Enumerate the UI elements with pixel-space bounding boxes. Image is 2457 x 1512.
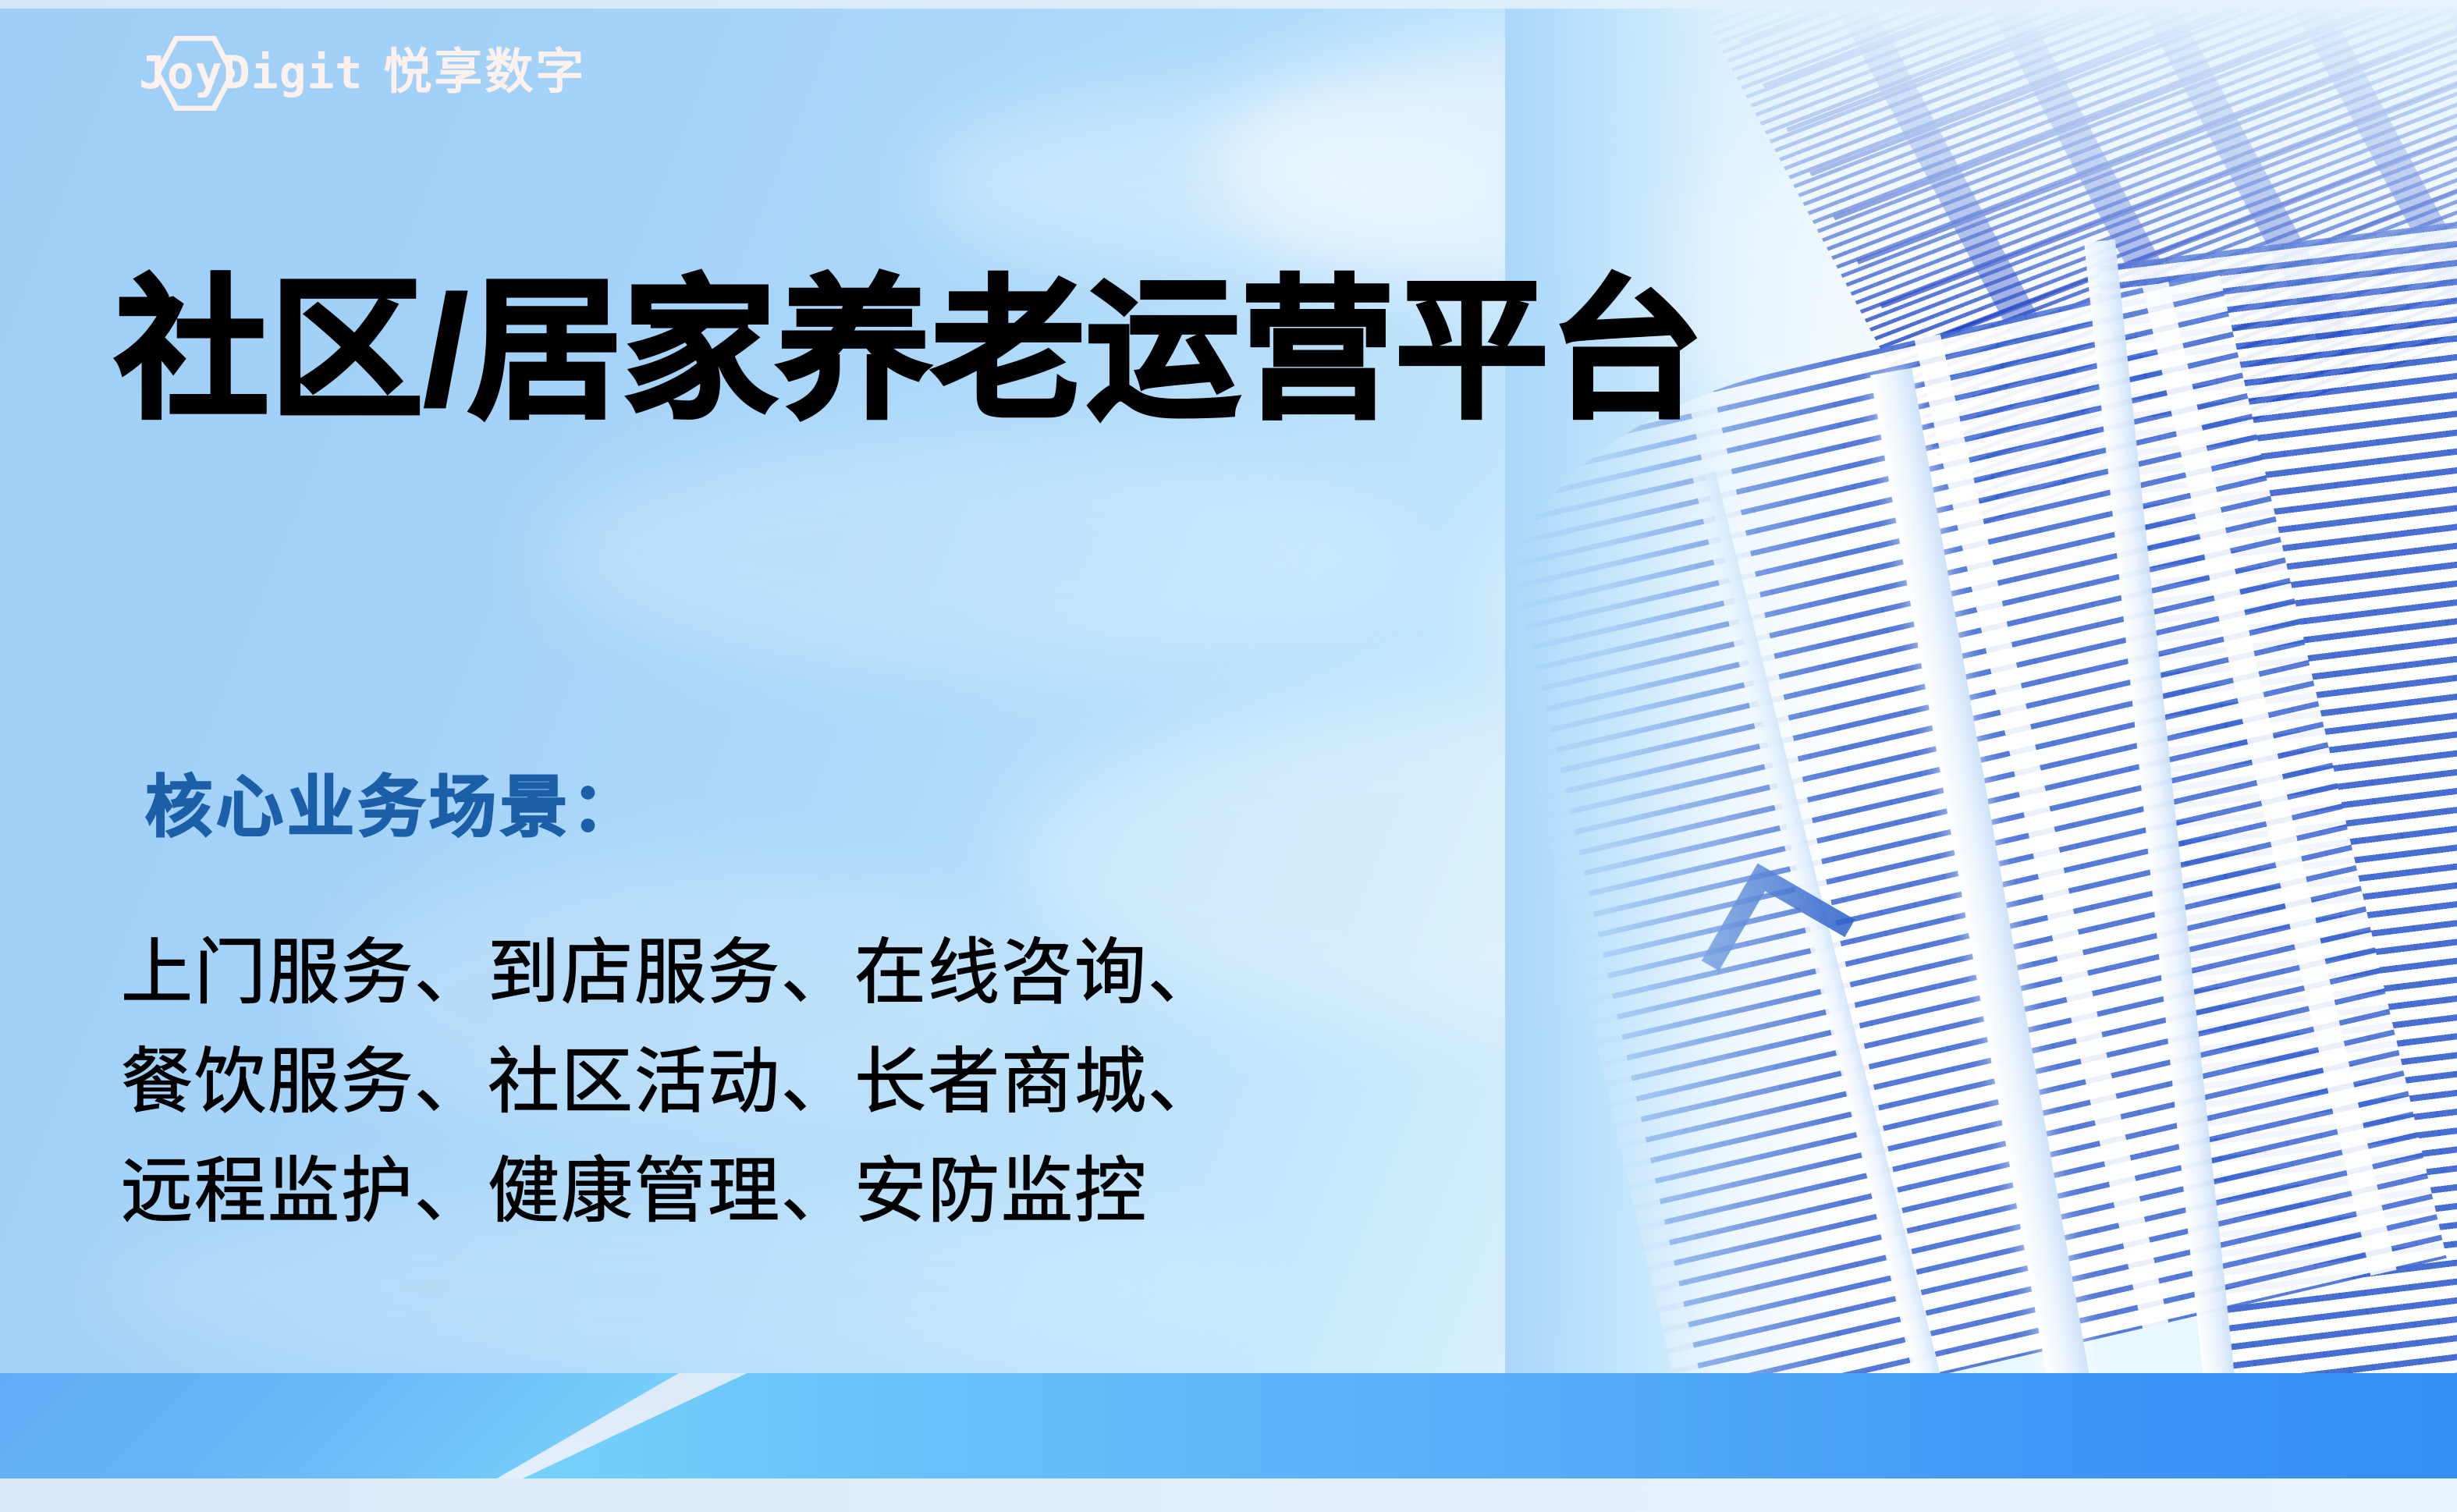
brand-logo-chinese: 悦享数字	[383, 48, 586, 97]
top-accent-strip	[0, 0, 2457, 9]
footer-band-right	[523, 1373, 2457, 1478]
scenario-list: 上门服务、到店服务、在线咨询、 餐饮服务、社区活动、长者商城、 远程监护、健康管…	[121, 919, 1221, 1246]
slide-canvas: JoyDigit 悦享数字 社区/居家养老运营平台 核心业务场景： 上门服务、到…	[0, 0, 2457, 1512]
photo-left-haze	[1505, 9, 1841, 1373]
brand-logo[interactable]: JoyDigit 悦享数字	[139, 37, 586, 108]
scenario-line: 餐饮服务、社区活动、长者商城、	[121, 1028, 1221, 1138]
skyscraper-photo	[1505, 9, 2457, 1373]
scenario-line: 上门服务、到店服务、在线咨询、	[121, 919, 1221, 1028]
scenario-line: 远程监护、健康管理、安防监控	[121, 1138, 1221, 1247]
brand-logo-latin: JoyDigit	[139, 50, 363, 95]
footer-base-strip	[0, 1478, 2457, 1512]
page-title: 社区/居家养老运营平台	[115, 275, 1704, 428]
section-heading: 核心业务场景：	[145, 774, 642, 841]
footer-decoration	[0, 1373, 2457, 1512]
